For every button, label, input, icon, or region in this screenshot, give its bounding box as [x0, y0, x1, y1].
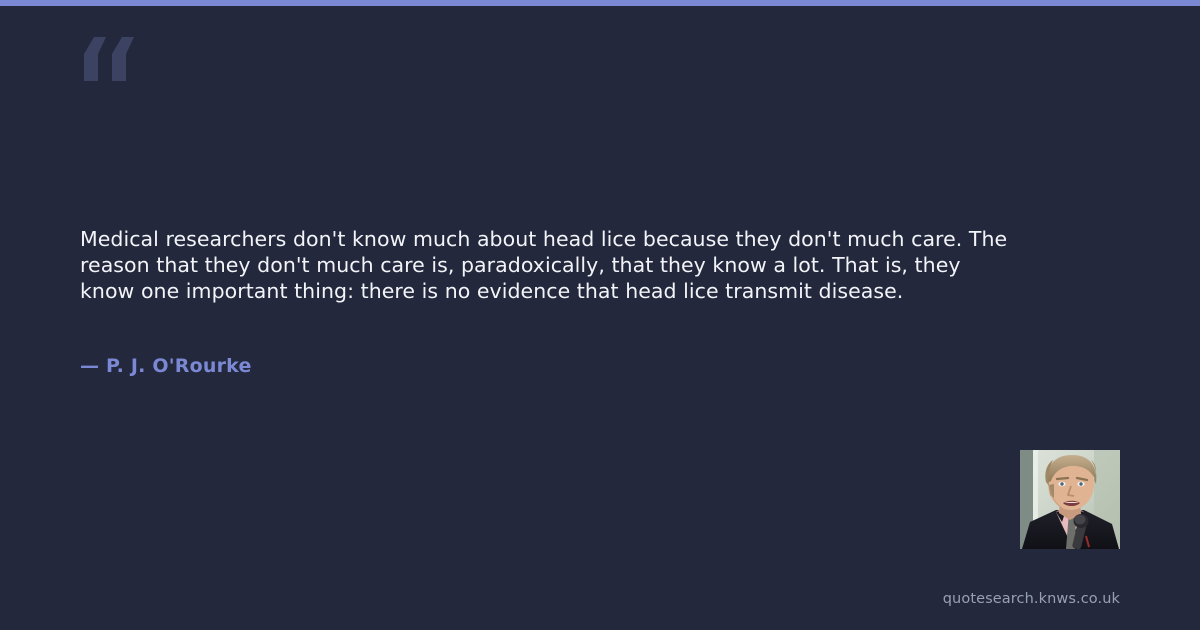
author-portrait-image	[1020, 450, 1120, 549]
site-url-footer: quotesearch.knws.co.uk	[943, 591, 1120, 607]
quote-attribution: — P. J. O'Rourke	[80, 355, 252, 377]
quote-text: Medical researchers don't know much abou…	[80, 226, 1010, 304]
quote-card: Medical researchers don't know much abou…	[0, 0, 1200, 630]
double-quote-open-icon	[80, 37, 136, 81]
top-accent-bar	[0, 0, 1200, 6]
